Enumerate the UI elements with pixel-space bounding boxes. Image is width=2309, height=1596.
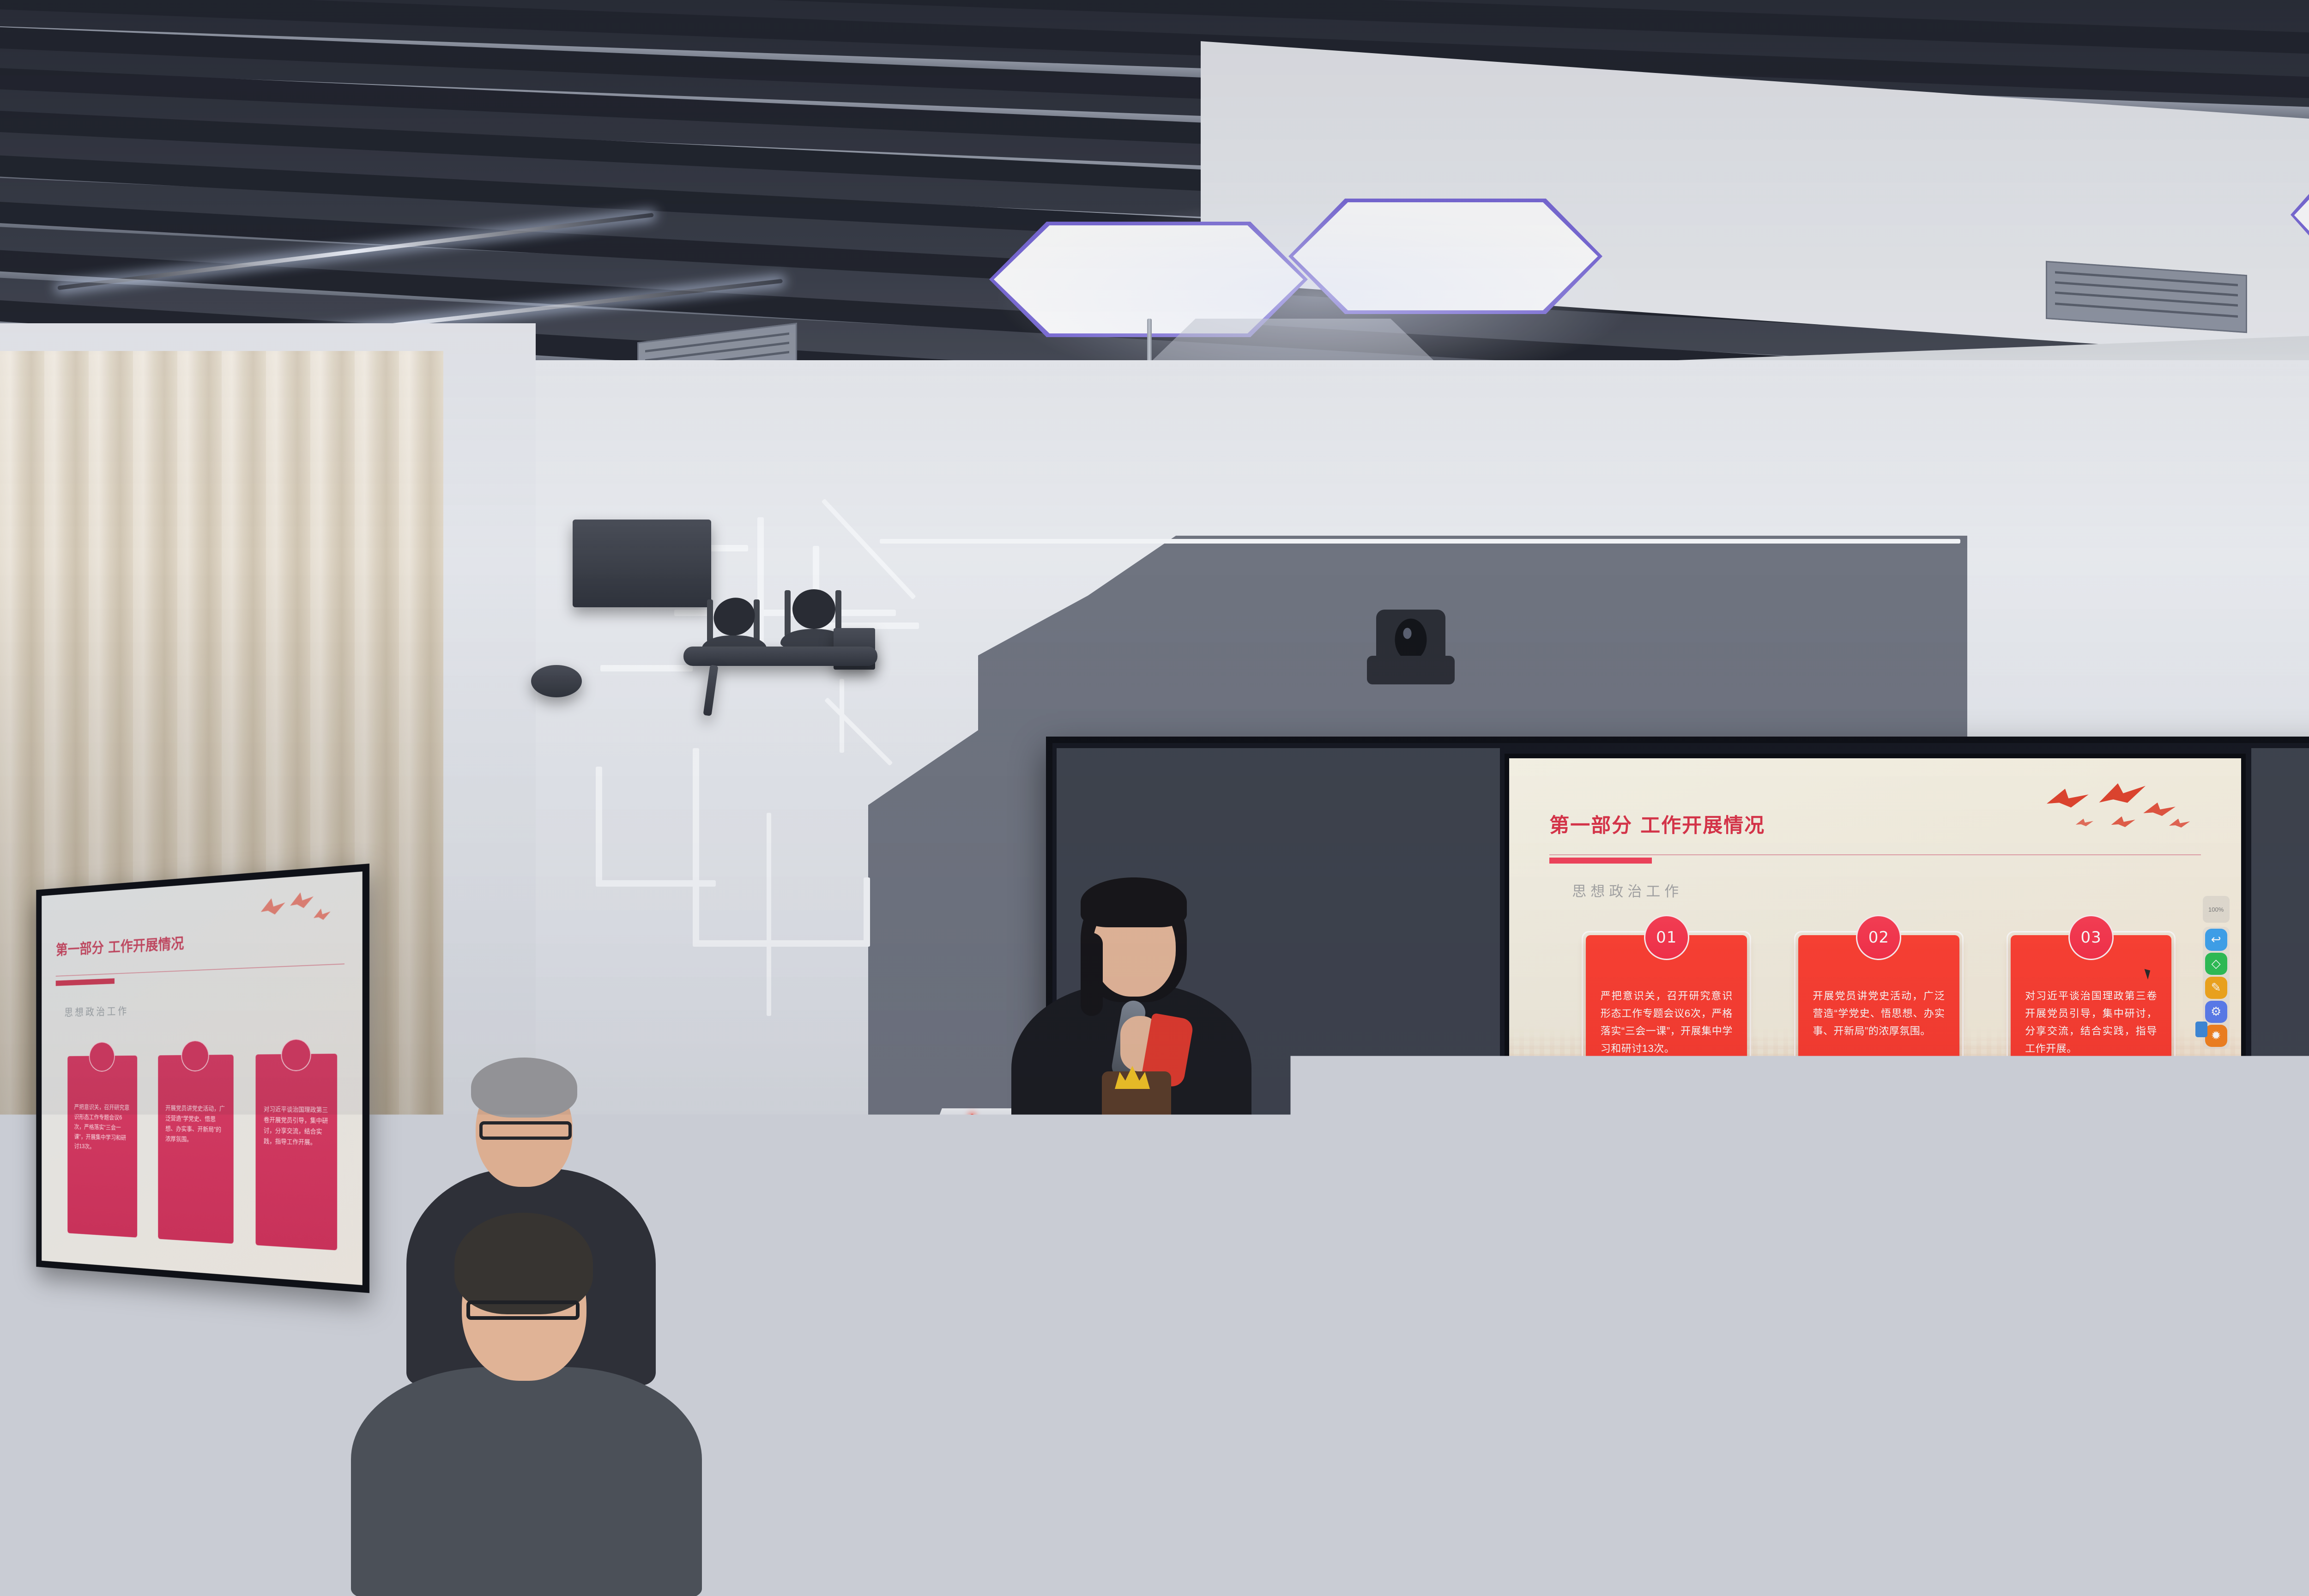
office-chair-back[interactable]	[1635, 1445, 1856, 1596]
attendee-hair	[454, 1213, 593, 1314]
secondary-slide-title: 第一部分 工作开展情况	[56, 931, 184, 959]
eyeglasses	[479, 1121, 572, 1140]
secondary-slide-accent-bar	[56, 979, 115, 986]
zoom-level-indicator[interactable]: 100%	[2203, 896, 2230, 923]
wall-trim-line	[596, 767, 602, 887]
secondary-card-text: 对习近平谈治国理政第三卷开展党员引导，集中研讨，分享交流，结合实践，指导工作开展…	[264, 1104, 329, 1148]
settings-icon[interactable]: ⚙	[2205, 1001, 2227, 1023]
accent-wall-outline	[767, 813, 771, 1016]
attendee-hair	[1709, 1071, 1880, 1205]
slide-title-rule	[1549, 854, 2201, 855]
attendee-hair	[471, 1058, 577, 1118]
slide-title: 第一部分 工作开展情况	[1549, 810, 1765, 838]
accent-wall-outline	[880, 539, 1960, 544]
card-number-badge: 01	[1644, 915, 1689, 960]
water-bottle[interactable]	[715, 1251, 755, 1367]
attendee-navy-note-taker	[1076, 1141, 1482, 1596]
eyeglasses	[466, 1300, 580, 1320]
hex-ceiling-light	[1293, 202, 1598, 310]
bezel-slot	[2113, 1187, 2233, 1195]
paper-cup[interactable]	[767, 1307, 807, 1362]
wall-trim-line	[600, 665, 693, 671]
hex-ceiling-light	[994, 225, 1303, 333]
eraser-icon[interactable]: ◇	[2205, 953, 2227, 975]
conference-camera-bar	[1367, 656, 1455, 684]
secondary-slide-rule	[56, 963, 345, 976]
secondary-slide-subtitle: 思想政治工作	[65, 1003, 129, 1019]
wall-speaker	[573, 520, 711, 607]
ceiling-speaker-dome	[531, 665, 582, 697]
attendee-torso	[1076, 1312, 1482, 1596]
wall-trim-line	[864, 877, 870, 947]
attendee-glasses-auburn	[55, 1353, 369, 1596]
podium-led-indicator	[970, 1114, 974, 1118]
presenter	[1011, 877, 1251, 1164]
meeting-room-scene: 第一部分 工作开展情况 思想政治工作 01 严把意识关，召开研究意识形态工作专题…	[0, 0, 2309, 1596]
pen-icon[interactable]: ✎	[2205, 977, 2227, 999]
attendee-head	[79, 1228, 175, 1344]
flying-birds-decoration	[2043, 783, 2205, 840]
podium-monitor[interactable]	[901, 1191, 1099, 1330]
paper-cup[interactable]	[949, 1496, 993, 1561]
presenter-hair-side	[1081, 933, 1103, 1016]
card-number-badge: 03	[2068, 915, 2114, 960]
slide-card[interactable]: 03 对习近平谈治国理政第三卷开展党员引导，集中研讨，分享交流，结合实践，指导工…	[2011, 935, 2172, 1116]
card-number-badge: 02	[1856, 915, 1901, 960]
table-leg	[914, 1395, 926, 1482]
pointer-icon[interactable]: ✹	[2205, 1025, 2227, 1047]
wall-trim-line	[693, 940, 868, 947]
presenter-hair-front	[1081, 877, 1187, 927]
secondary-card-text: 开展党员讲党史活动，广泛营造“学党史、悟思想、办实事、开新局”的浓厚氛围。	[165, 1103, 226, 1145]
slide-title-accent-bar	[1549, 858, 1652, 864]
wall-trim-line	[693, 748, 699, 947]
secondary-birds-decoration	[258, 889, 341, 943]
attendee-hair	[1188, 1145, 1343, 1265]
card-text: 开展党员讲党史活动，广泛营造“学党史、悟思想、办实事、开新局”的浓厚氛围。	[1813, 987, 1945, 1040]
card-text: 对习近平谈治国理政第三卷开展党员引导，集中研讨，分享交流，结合实践，指导工作开展…	[2025, 987, 2157, 1057]
power-led-indicator	[1549, 1185, 1554, 1190]
whiteboard-right-blank-area	[2251, 748, 2309, 1185]
card-text: 严把意识关，召开研究意识形态工作专题会议6次，严格落实“三会一课”，开展集中学习…	[1601, 987, 1733, 1057]
page-scroll-handle[interactable]	[2195, 1022, 2207, 1037]
undo-icon[interactable]: ↩	[2205, 929, 2227, 951]
secondary-card-text: 严把意识关，召开研究意识形态工作专题会议6次，严格落实“三会一课”，开展集中学习…	[74, 1102, 130, 1153]
wall-trim-line	[596, 880, 716, 887]
slide-subtitle: 思想政治工作	[1572, 880, 1683, 901]
folded-jacket	[711, 1469, 919, 1593]
office-chair[interactable]	[1916, 1353, 2101, 1596]
camera-shelf	[683, 647, 877, 666]
